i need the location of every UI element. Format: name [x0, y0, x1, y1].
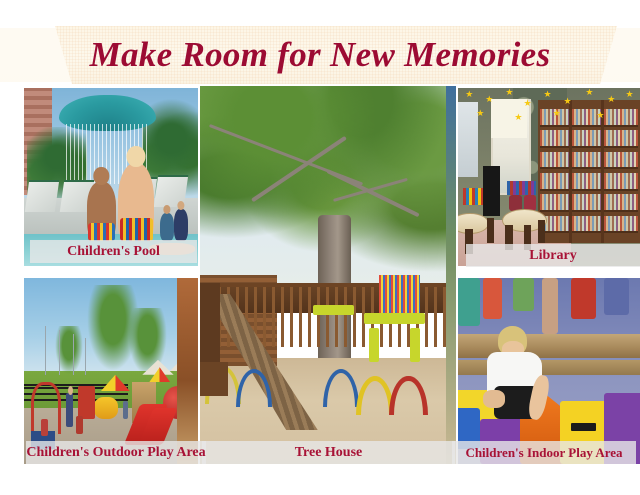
background-person	[604, 278, 629, 315]
background-person	[571, 278, 596, 319]
right-edge-strip	[446, 86, 456, 464]
star-decoration-icon: ★	[476, 109, 484, 118]
background-person	[483, 278, 501, 319]
star-decoration-icon: ★	[585, 88, 593, 97]
photo-indoor-play-area	[458, 278, 640, 464]
background-swimmer	[174, 209, 188, 241]
book-row	[540, 194, 638, 212]
caption-library: Library	[466, 244, 640, 267]
child-foreground-right	[118, 163, 155, 241]
book-display-window	[507, 181, 536, 195]
play-frame-post	[369, 328, 379, 362]
caption-indoor-play-area: Children's Indoor Play Area	[452, 441, 636, 464]
page-title: Make Room for New Memories	[0, 26, 640, 84]
photo-library-art: ★ ★ ★ ★ ★ ★ ★ ★ ★ ★ ★ ★ ★	[458, 88, 640, 266]
play-panel-red	[78, 386, 95, 419]
chair	[487, 218, 494, 243]
caption-tree-house: Tree House	[202, 441, 455, 464]
child-figure	[76, 416, 83, 435]
photo-library: ★ ★ ★ ★ ★ ★ ★ ★ ★ ★ ★ ★ ★	[458, 88, 640, 266]
title-banner: Make Room for New Memories	[0, 26, 640, 84]
background-person	[458, 278, 480, 326]
book-row	[540, 152, 638, 170]
book-row	[540, 130, 638, 148]
dark-panel	[483, 166, 499, 216]
light-pole	[73, 334, 75, 375]
right-edge-strip	[177, 278, 198, 464]
yellow-tunnel	[94, 397, 118, 419]
book-row	[540, 216, 638, 234]
balance-beam-lower	[458, 360, 640, 375]
library-side-window	[458, 102, 478, 177]
background-person	[542, 278, 558, 334]
caption-children-pool: Children's Pool	[30, 240, 197, 263]
caption-outdoor-play-area: Children's Outdoor Play Area	[26, 441, 206, 464]
star-decoration-icon: ★	[564, 97, 572, 106]
star-decoration-icon: ★	[553, 109, 561, 118]
photo-outdoor-play-area	[24, 278, 198, 464]
background-swimmer	[160, 213, 174, 241]
photo-outdoor-play-area-art	[24, 278, 198, 464]
child-foreground-left	[87, 182, 117, 241]
photo-tree-house	[200, 86, 456, 464]
star-decoration-icon: ★	[625, 90, 633, 99]
background-person	[513, 278, 535, 311]
hanging-ribbons	[379, 275, 420, 313]
light-pole	[45, 326, 47, 374]
play-frame-bar	[313, 305, 354, 314]
adult-figure	[66, 393, 73, 426]
star-decoration-icon: ★	[465, 90, 473, 99]
wooden-bench	[200, 362, 228, 396]
star-decoration-icon: ★	[544, 90, 552, 99]
adult-head	[68, 386, 73, 395]
star-decoration-icon: ★	[485, 95, 493, 104]
star-decoration-icon: ★	[505, 88, 513, 97]
light-pole	[85, 338, 87, 375]
bookshelf-unit	[538, 100, 640, 242]
book-row	[540, 173, 638, 191]
chair	[538, 220, 545, 243]
star-decoration-icon: ★	[607, 95, 615, 104]
photo-tree-house-art	[200, 86, 456, 464]
child-figure	[41, 419, 48, 436]
mat-handle	[571, 423, 596, 430]
lounge-chair	[25, 180, 59, 212]
child-knee	[483, 390, 505, 409]
star-decoration-icon: ★	[596, 111, 604, 120]
play-frame-post	[410, 328, 420, 362]
photo-indoor-play-area-art	[458, 278, 640, 464]
balance-beam	[458, 334, 640, 358]
star-decoration-icon: ★	[514, 113, 522, 122]
child-figure	[123, 401, 128, 420]
light-pole	[59, 330, 61, 375]
star-decoration-icon: ★	[524, 99, 532, 108]
slide-canvas: Make Room for New Memories	[0, 0, 640, 495]
play-frame-bar	[364, 313, 425, 324]
